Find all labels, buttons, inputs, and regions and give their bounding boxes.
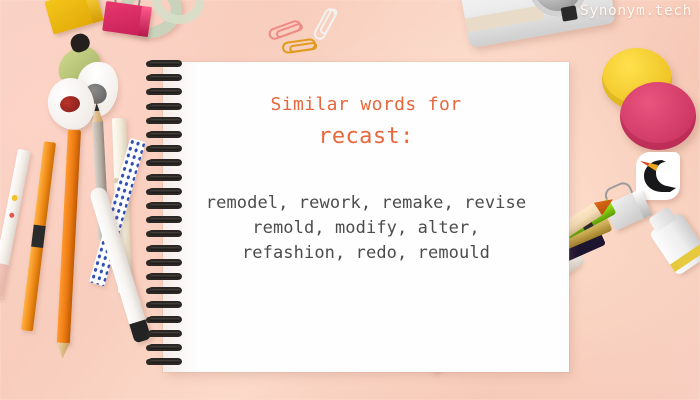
brand-logo: Synonym.tech [580,3,692,19]
target-word: recast: [318,124,414,149]
notebook-content: Similar words for recast: remodel, rewor… [163,62,569,372]
screenshot-scene: Similar words for recast: remodel, rewor… [0,0,700,400]
macaron-pink-icon [620,82,696,150]
synonyms-text: remodel, rework, remake, revise remold, … [206,191,526,266]
heading-prefix: Similar words for [270,94,461,115]
binder-clip-pink-icon [102,1,152,37]
